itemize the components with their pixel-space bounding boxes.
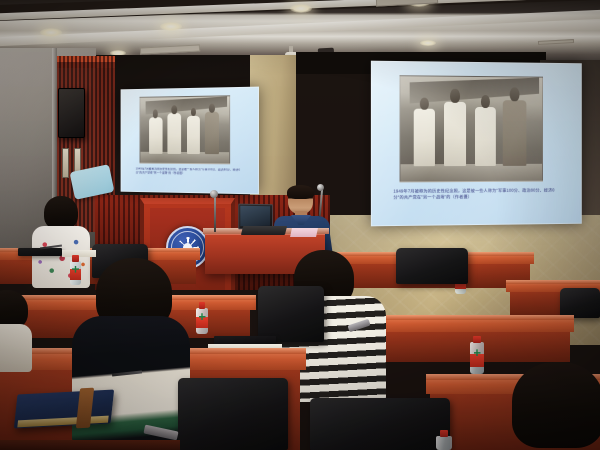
photo-figure <box>503 100 527 166</box>
photo-figure-head <box>450 89 459 103</box>
attendee-head <box>512 362 600 448</box>
recessed-downlight-icon <box>40 28 62 37</box>
water-bottle <box>196 302 208 334</box>
historic-photo <box>400 75 543 182</box>
photo-figure <box>167 113 181 154</box>
desk-front <box>360 330 570 362</box>
slide-caption: 1949年7月被称为的历史性纪念照，这是被一些人称为"军事100分、政治80分、… <box>393 187 554 218</box>
handout-papers <box>290 228 318 237</box>
photo-figure <box>205 112 219 154</box>
bottle-body <box>436 436 452 450</box>
photo-figure-head <box>510 87 519 102</box>
bottle-cap <box>199 302 206 309</box>
bottle-cap <box>473 336 481 343</box>
water-bottle <box>436 430 452 450</box>
left-projection-screen: 1949年7月被称为的历史性纪念照，这是被一些人称为"军事100分、政治80分、… <box>121 87 259 195</box>
bottle-label <box>196 317 208 328</box>
water-bottle <box>470 336 484 374</box>
microphone-icon <box>317 184 324 191</box>
conference-chair <box>178 378 288 450</box>
recessed-downlight-icon <box>160 22 182 31</box>
laptop-screen <box>240 206 270 226</box>
photo-figure-head <box>172 105 178 114</box>
bottle-cap <box>440 430 449 437</box>
recessed-downlight-icon <box>420 40 436 46</box>
microphone-icon <box>210 190 218 198</box>
photo-figure-head <box>420 97 429 110</box>
desk-edge <box>506 280 600 284</box>
photo-figure <box>444 102 467 167</box>
presenter-hair <box>287 185 314 199</box>
photo-ground <box>401 164 542 181</box>
microphone-stand <box>214 196 216 232</box>
recessed-downlight-icon <box>290 4 312 13</box>
attendee-left-edge <box>0 290 30 370</box>
photo-figure <box>475 107 496 166</box>
laptop-keyboard <box>241 226 287 235</box>
photo-figure-head <box>481 95 489 108</box>
photo-figure <box>187 115 200 153</box>
lecture-hall-photo: 1949年7月被称为的历史性纪念照，这是被一些人称为"军事100分、政治80分、… <box>0 0 600 450</box>
photo-figure <box>149 117 162 154</box>
conference-chair <box>258 286 324 342</box>
attendee-right-foreground <box>512 362 600 450</box>
photo-figure-head <box>153 110 158 118</box>
main-projection-screen: 1949年7月被称为的历史性纪念照，这是被一些人称为"军事100分、政治80分、… <box>371 61 582 227</box>
conference-chair <box>310 398 450 450</box>
attendee-head <box>44 196 78 230</box>
photo-figure-head <box>191 108 196 116</box>
conference-chair <box>396 248 468 284</box>
wall-plate <box>62 148 69 178</box>
wall-speaker-icon <box>58 88 85 138</box>
photo-figure-head <box>209 104 215 113</box>
slide-caption: 1949年7月被称为的历史性纪念照，这是被一些人称为"军事100分、政治80分、… <box>136 167 245 189</box>
attendee-torso <box>0 324 32 372</box>
floor-step <box>0 440 180 450</box>
bottle-label <box>470 354 484 367</box>
desk-edge <box>356 315 574 320</box>
historic-photo <box>140 95 231 164</box>
photo-figure <box>413 109 435 167</box>
desk-top <box>356 318 574 332</box>
conference-chair <box>560 288 600 318</box>
